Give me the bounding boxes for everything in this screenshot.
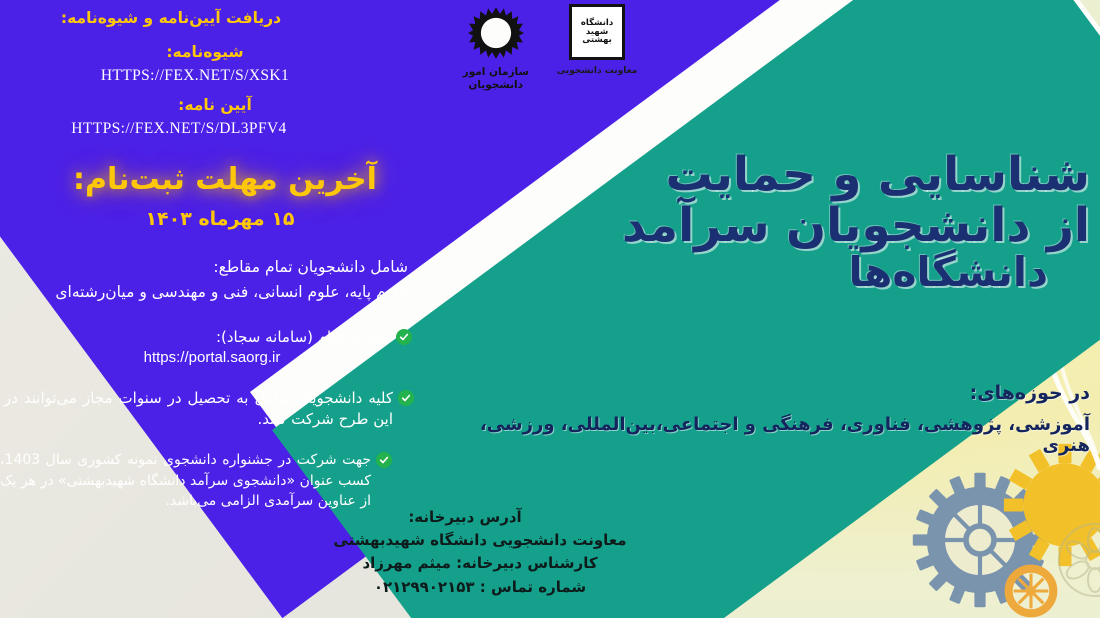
- fields-section: در حوزه‌های: آموزشی، پژوهشی، فناوری، فره…: [450, 382, 1090, 456]
- check-circle-icon: [376, 452, 392, 468]
- deadline-title: آخرین مهلت ثبت‌نام:: [30, 162, 420, 197]
- logo-university-caption: معاونت دانشجویی: [557, 66, 638, 76]
- secretariat-office: معاونت دانشجویی دانشگاه شهیدبهشتی: [300, 531, 660, 549]
- bullet-1-text: لینک ثبت‌نام (سامانه سجاد):: [12, 327, 391, 348]
- bullet-2-text: کلیه دانشجویان شاغل به تحصیل در سنوات مج…: [4, 388, 393, 431]
- sao-starburst-icon: [467, 4, 525, 62]
- logo-group: سازمان امور دانشجویان دانشگاه شهید بهشتی…: [425, 4, 675, 116]
- title-line-3: دانشگاه‌ها: [570, 250, 1090, 294]
- check-circle-icon: [396, 329, 412, 345]
- fields-list: آموزشی، پژوهشی، فناوری، فرهنگی و اجتماعی…: [450, 414, 1090, 456]
- bullet-3-text: جهت شرکت در جشنواره دانشجوی نمونه کشوری …: [0, 450, 371, 512]
- regulation-label: آیین نامه:: [50, 96, 380, 114]
- main-title: شناسایی و حمایت از دانشجویان سرآمد دانشگ…: [570, 150, 1090, 294]
- sao-caption-line2: دانشجویان: [468, 79, 523, 91]
- registration-portal-url[interactable]: https://portal.saorg.ir: [12, 349, 412, 366]
- fields-label: در حوزه‌های:: [450, 382, 1090, 404]
- check-circle-icon: [398, 390, 414, 406]
- logo-organization: سازمان امور دانشجویان: [463, 4, 529, 92]
- method-url[interactable]: HTTPS://FEX.NET/S/XSK1: [30, 67, 360, 85]
- sao-caption-line1: سازمان امور: [463, 66, 529, 78]
- secretariat-title: آدرس دبیرخانه:: [300, 508, 630, 526]
- bullet-eligibility: کلیه دانشجویان شاغل به تحصیل در سنوات مج…: [4, 388, 414, 431]
- title-line-1: شناسایی و حمایت: [570, 150, 1090, 201]
- sbu-seal-text: دانشگاه شهید بهشتی: [574, 19, 620, 46]
- includes-line1: شامل دانشجویان تمام مقاطع:: [20, 258, 420, 276]
- title-line-2: از دانشجویان سرآمد: [570, 201, 1090, 252]
- sbu-seal-icon: دانشگاه شهید بهشتی: [569, 4, 625, 60]
- download-header: دریافت آیین‌نامه و شیوه‌نامه:: [6, 9, 336, 27]
- poster-root: سازمان امور دانشجویان دانشگاه شهید بهشتی…: [0, 0, 1100, 618]
- secretariat-phone: شماره تماس : ۰۲۱۲۹۹۰۲۱۵۳: [300, 578, 660, 596]
- bullet-registration-link: لینک ثبت‌نام (سامانه سجاد): https://port…: [12, 327, 412, 366]
- deadline-date: ۱۵ مهرماه ۱۴۰۳: [40, 208, 400, 230]
- regulation-url[interactable]: HTTPS://FEX.NET/S/DL3PFV4: [14, 120, 344, 138]
- logo-university: دانشگاه شهید بهشتی معاونت دانشجویی: [557, 4, 638, 76]
- gear-outline-flower-icon: [1045, 510, 1100, 610]
- includes-line2: علوم پایه، علوم انسانی، فنی و مهندسی و م…: [10, 283, 420, 301]
- method-label: شیوه‌نامه:: [40, 43, 370, 61]
- bullet-festival-requirement: جهت شرکت در جشنواره دانشجوی نمونه کشوری …: [0, 450, 392, 512]
- secretariat-contact-person: کارشناس دبیرخانه: میثم مهرزاد: [300, 554, 660, 572]
- logo-organization-caption: سازمان امور دانشجویان: [463, 66, 529, 92]
